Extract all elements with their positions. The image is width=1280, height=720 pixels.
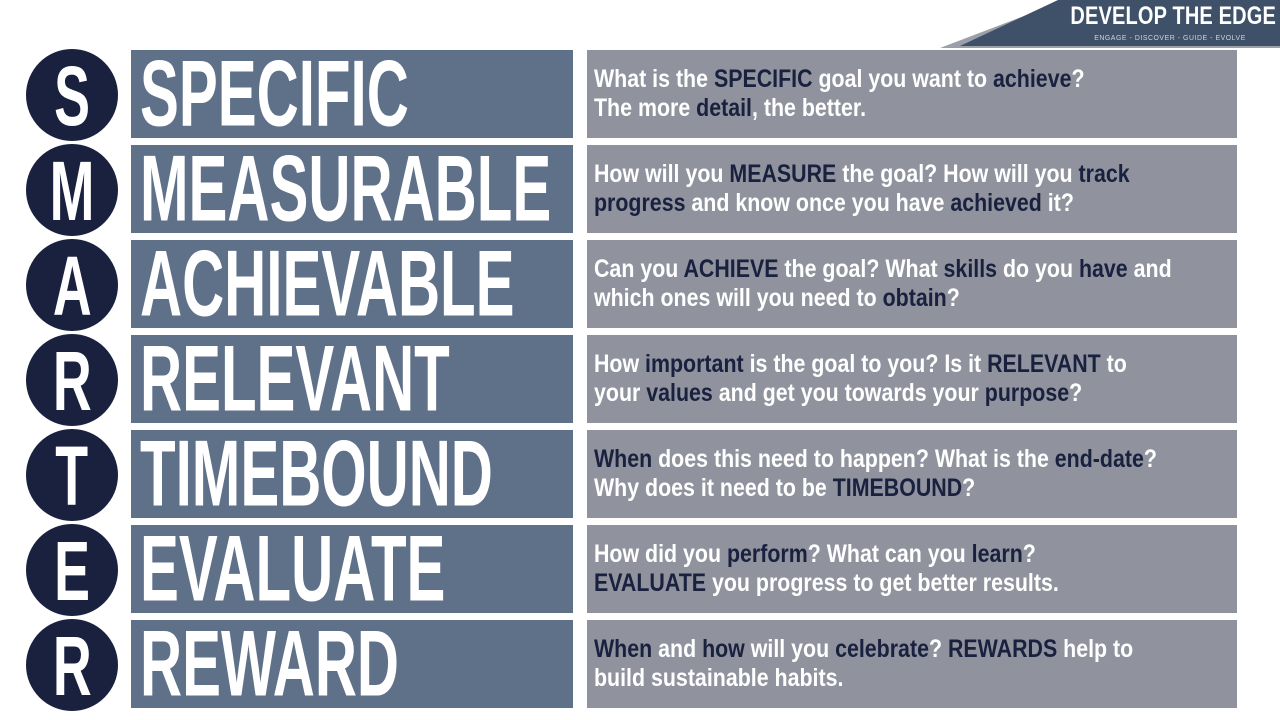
letter-circle-t-4: T bbox=[26, 429, 118, 521]
brand-title: DEVELOP THE EDGE bbox=[1070, 4, 1276, 29]
circle-letter: S bbox=[54, 61, 90, 132]
highlight-word: have bbox=[1079, 255, 1128, 283]
plain-text: to bbox=[1101, 350, 1127, 378]
word-label: REWARD bbox=[140, 624, 399, 705]
plain-text: and get you towards your bbox=[713, 379, 985, 407]
plain-text: it? bbox=[1042, 189, 1074, 217]
highlight-word: important bbox=[645, 350, 744, 378]
plain-text: and bbox=[1128, 255, 1172, 283]
smarter-row: MMEASURABLEHow will you MEASURE the goal… bbox=[0, 143, 1280, 237]
description-panel: How important is the goal to you? Is it … bbox=[587, 335, 1237, 423]
plain-text: ? bbox=[929, 635, 948, 663]
plain-text: ? bbox=[947, 284, 960, 312]
highlight-word: progress bbox=[594, 189, 685, 217]
description-text: When does this need to happen? What is t… bbox=[594, 445, 1237, 503]
word-panel: REWARD bbox=[131, 620, 573, 708]
letter-circle-a-2: A bbox=[26, 239, 118, 331]
highlight-word: purpose bbox=[985, 379, 1069, 407]
word-label: RELEVANT bbox=[140, 339, 450, 420]
highlight-word: TIMEBOUND bbox=[833, 474, 962, 502]
description-text: How did you perform? What can you learn?… bbox=[594, 540, 1237, 598]
description-line: which ones will you need to obtain? bbox=[594, 284, 1158, 313]
description-panel: Can you ACHIEVE the goal? What skills do… bbox=[587, 240, 1237, 328]
word-panel: ACHIEVABLE bbox=[131, 240, 573, 328]
plain-text: which ones will you need to bbox=[594, 284, 883, 312]
highlight-word: When bbox=[594, 445, 652, 473]
plain-text: Why does it need to be bbox=[594, 474, 833, 502]
description-panel: How did you perform? What can you learn?… bbox=[587, 525, 1237, 613]
description-text: Can you ACHIEVE the goal? What skills do… bbox=[594, 255, 1237, 313]
description-line: progress and know once you have achieved… bbox=[594, 189, 1158, 218]
description-text: What is the SPECIFIC goal you want to ac… bbox=[594, 65, 1237, 123]
plain-text: How bbox=[594, 350, 645, 378]
smarter-row: AACHIEVABLECan you ACHIEVE the goal? Wha… bbox=[0, 238, 1280, 332]
plain-text: your bbox=[594, 379, 646, 407]
description-text: How important is the goal to you? Is it … bbox=[594, 350, 1237, 408]
highlight-word: how bbox=[702, 635, 745, 663]
highlight-word: achieve bbox=[993, 65, 1071, 93]
smarter-row: EEVALUATEHow did you perform? What can y… bbox=[0, 523, 1280, 617]
description-panel: When does this need to happen? What is t… bbox=[587, 430, 1237, 518]
description-line: build sustainable habits. bbox=[594, 664, 1158, 693]
highlight-word: track bbox=[1079, 160, 1130, 188]
plain-text: will you bbox=[745, 635, 835, 663]
plain-text: and know once you have bbox=[685, 189, 950, 217]
plain-text: ? bbox=[1023, 540, 1036, 568]
smarter-row: SSPECIFICWhat is the SPECIFIC goal you w… bbox=[0, 48, 1280, 142]
plain-text: the goal? What bbox=[778, 255, 943, 283]
word-panel: SPECIFIC bbox=[131, 50, 573, 138]
word-panel: TIMEBOUND bbox=[131, 430, 573, 518]
highlight-word: ACHIEVE bbox=[683, 255, 778, 283]
plain-text: ? bbox=[1069, 379, 1082, 407]
word-panel: EVALUATE bbox=[131, 525, 573, 613]
highlight-word: EVALUATE bbox=[594, 569, 706, 597]
word-label: EVALUATE bbox=[140, 529, 445, 610]
plain-text: the goal? How will you bbox=[836, 160, 1078, 188]
circle-letter: A bbox=[53, 251, 92, 322]
smarter-row: TTIMEBOUNDWhen does this need to happen?… bbox=[0, 428, 1280, 522]
plain-text: How will you bbox=[594, 160, 729, 188]
highlight-word: When bbox=[594, 635, 652, 663]
plain-text: ? bbox=[1071, 65, 1084, 93]
word-label: TIMEBOUND bbox=[140, 434, 493, 515]
plain-text: do you bbox=[997, 255, 1079, 283]
highlight-word: end-date bbox=[1055, 445, 1144, 473]
description-line: When and how will you celebrate? REWARDS… bbox=[594, 635, 1158, 664]
circle-letter: T bbox=[56, 441, 89, 512]
description-line: EVALUATE you progress to get better resu… bbox=[594, 569, 1158, 598]
plain-text: ? bbox=[962, 474, 975, 502]
description-panel: What is the SPECIFIC goal you want to ac… bbox=[587, 50, 1237, 138]
highlight-word: achieved bbox=[950, 189, 1041, 217]
description-line: How did you perform? What can you learn? bbox=[594, 540, 1158, 569]
description-line: The more detail, the better. bbox=[594, 94, 1158, 123]
brand-tagline: ENGAGE - DISCOVER - GUIDE - EVOLVE bbox=[1094, 34, 1246, 42]
plain-text: build sustainable habits. bbox=[594, 664, 843, 692]
word-panel: MEASURABLE bbox=[131, 145, 573, 233]
word-label: ACHIEVABLE bbox=[140, 244, 515, 325]
description-line: Why does it need to be TIMEBOUND? bbox=[594, 474, 1158, 503]
word-label: SPECIFIC bbox=[140, 54, 409, 135]
plain-text: you progress to get better results. bbox=[706, 569, 1059, 597]
plain-text: , the better. bbox=[752, 94, 866, 122]
letter-circle-m-1: M bbox=[26, 144, 118, 236]
plain-text: ? bbox=[1144, 445, 1157, 473]
word-panel: RELEVANT bbox=[131, 335, 573, 423]
highlight-word: REWARDS bbox=[948, 635, 1057, 663]
description-line: How will you MEASURE the goal? How will … bbox=[594, 160, 1158, 189]
description-line: What is the SPECIFIC goal you want to ac… bbox=[594, 65, 1158, 94]
description-line: When does this need to happen? What is t… bbox=[594, 445, 1158, 474]
plain-text: The more bbox=[594, 94, 696, 122]
plain-text: is the goal to you? Is it bbox=[744, 350, 987, 378]
description-line: your values and get you towards your pur… bbox=[594, 379, 1158, 408]
description-panel: When and how will you celebrate? REWARDS… bbox=[587, 620, 1237, 708]
letter-circle-e-5: E bbox=[26, 524, 118, 616]
word-label: MEASURABLE bbox=[140, 149, 551, 230]
plain-text: ? What can you bbox=[808, 540, 972, 568]
highlight-word: SPECIFIC bbox=[714, 65, 813, 93]
highlight-word: obtain bbox=[883, 284, 947, 312]
letter-circle-r-3: R bbox=[26, 334, 118, 426]
circle-letter: R bbox=[53, 346, 92, 417]
smarter-row: RREWARDWhen and how will you celebrate? … bbox=[0, 618, 1280, 712]
highlight-word: values bbox=[646, 379, 713, 407]
highlight-word: celebrate bbox=[835, 635, 929, 663]
brand-logo: DEVELOP THE EDGE ENGAGE - DISCOVER - GUI… bbox=[980, 0, 1280, 46]
description-text: How will you MEASURE the goal? How will … bbox=[594, 160, 1237, 218]
plain-text: goal you want to bbox=[813, 65, 993, 93]
circle-letter: E bbox=[54, 536, 90, 607]
highlight-word: perform bbox=[727, 540, 808, 568]
description-text: When and how will you celebrate? REWARDS… bbox=[594, 635, 1237, 693]
highlight-word: learn bbox=[972, 540, 1023, 568]
highlight-word: skills bbox=[944, 255, 997, 283]
smarter-goal-board: SSPECIFICWhat is the SPECIFIC goal you w… bbox=[0, 48, 1280, 720]
plain-text: and bbox=[652, 635, 702, 663]
plain-text: What is the bbox=[594, 65, 714, 93]
description-line: Can you ACHIEVE the goal? What skills do… bbox=[594, 255, 1158, 284]
description-line: How important is the goal to you? Is it … bbox=[594, 350, 1158, 379]
plain-text: How did you bbox=[594, 540, 727, 568]
circle-letter: R bbox=[53, 631, 92, 702]
highlight-word: MEASURE bbox=[729, 160, 836, 188]
highlight-word: detail bbox=[696, 94, 752, 122]
description-panel: How will you MEASURE the goal? How will … bbox=[587, 145, 1237, 233]
highlight-word: RELEVANT bbox=[987, 350, 1101, 378]
plain-text: help to bbox=[1057, 635, 1133, 663]
circle-letter: M bbox=[50, 156, 95, 227]
plain-text: does this need to happen? What is the bbox=[652, 445, 1055, 473]
letter-circle-r-6: R bbox=[26, 619, 118, 711]
letter-circle-s-0: S bbox=[26, 49, 118, 141]
smarter-row: RRELEVANTHow important is the goal to yo… bbox=[0, 333, 1280, 427]
plain-text: Can you bbox=[594, 255, 683, 283]
